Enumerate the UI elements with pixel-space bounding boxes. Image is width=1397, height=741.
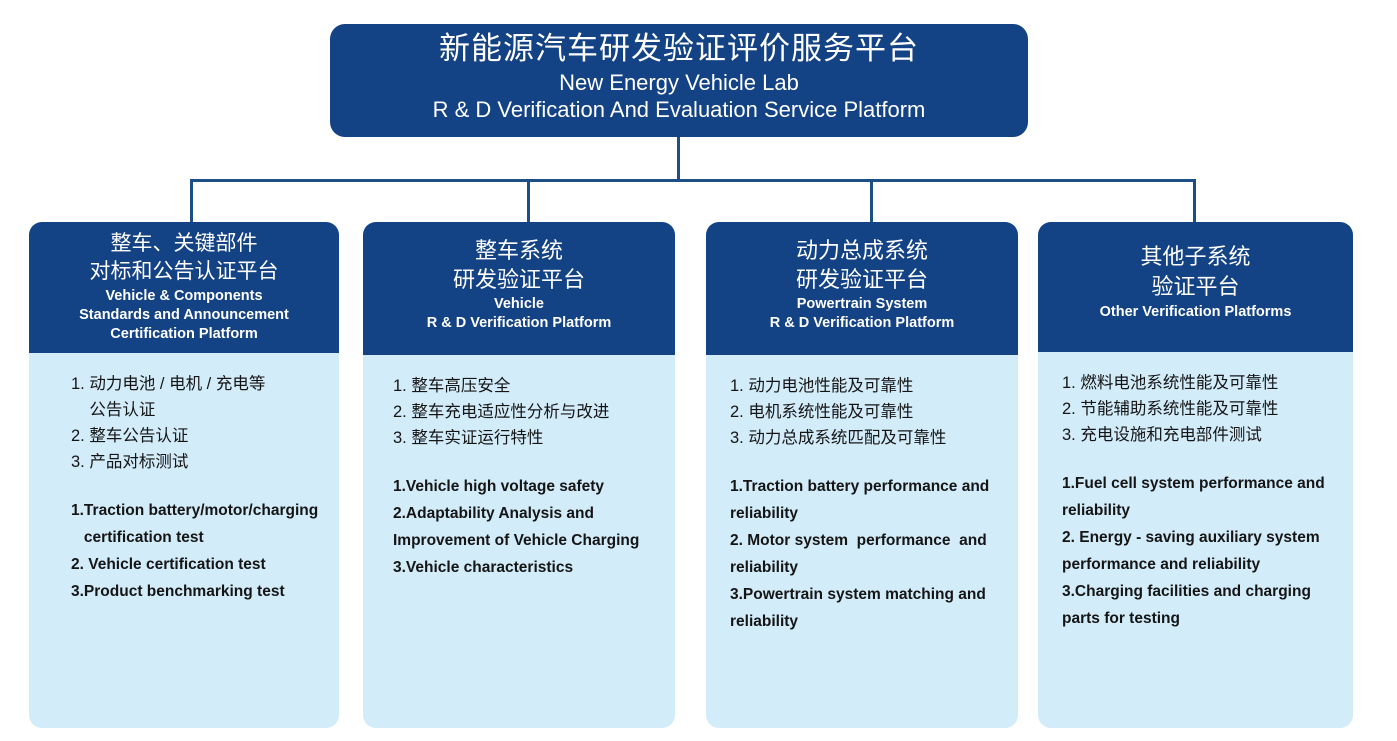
list-item: reliability: [730, 500, 1004, 527]
column-1-en-list: 1.Traction battery/motor/charging certif…: [71, 497, 325, 605]
column-3-header-en-line1: Powertrain System: [710, 295, 1014, 313]
list-item: 1. 动力电池性能及可靠性: [730, 373, 1004, 399]
list-item: Improvement of Vehicle Charging: [393, 527, 661, 554]
column-1-list-spacer: [71, 475, 325, 497]
list-item: 2.Adaptability Analysis and: [393, 500, 661, 527]
column-2-header-en-line2: R & D Verification Platform: [367, 314, 671, 332]
list-item: 3.Powertrain system matching and: [730, 581, 1004, 608]
connector-drop-4: [1193, 181, 1196, 223]
column-4-header-cn-line1: 其他子系统: [1042, 242, 1349, 272]
list-item: certification test: [71, 524, 325, 551]
connector-drop-3: [870, 181, 873, 223]
platform-column-2: 整车系统 研发验证平台 Vehicle R & D Verification P…: [363, 222, 675, 728]
column-1-header-en-line3: Certification Platform: [33, 325, 335, 343]
connector-drop-2: [527, 181, 530, 223]
list-item: 2. 整车公告认证: [71, 423, 325, 449]
list-item: performance and reliability: [1062, 551, 1339, 578]
list-item: reliability: [1062, 497, 1339, 524]
root-title-en-line2: R & D Verification And Evaluation Servic…: [330, 96, 1028, 123]
list-item: 2. 节能辅助系统性能及可靠性: [1062, 396, 1339, 422]
list-item: 2. Motor system performance and: [730, 527, 1004, 554]
column-1-header: 整车、关键部件 对标和公告认证平台 Vehicle & Components S…: [29, 222, 339, 353]
list-item: 1. 燃料电池系统性能及可靠性: [1062, 370, 1339, 396]
column-3-cn-list: 1. 动力电池性能及可靠性 2. 电机系统性能及可靠性 3. 动力总成系统匹配及…: [730, 373, 1004, 451]
column-1-header-cn-line1: 整车、关键部件: [33, 230, 335, 258]
list-item: 3. 充电设施和充电部件测试: [1062, 422, 1339, 448]
column-4-list-spacer: [1062, 448, 1339, 470]
list-item: 3. 产品对标测试: [71, 449, 325, 475]
column-4-body: 1. 燃料电池系统性能及可靠性 2. 节能辅助系统性能及可靠性 3. 充电设施和…: [1038, 352, 1353, 642]
root-platform-box: 新能源汽车研发验证评价服务平台 New Energy Vehicle Lab R…: [330, 24, 1028, 137]
diagram-canvas: 新能源汽车研发验证评价服务平台 New Energy Vehicle Lab R…: [0, 0, 1397, 741]
root-title-cn: 新能源汽车研发验证评价服务平台: [330, 29, 1028, 69]
column-4-cn-list: 1. 燃料电池系统性能及可靠性 2. 节能辅助系统性能及可靠性 3. 充电设施和…: [1062, 370, 1339, 448]
column-3-body: 1. 动力电池性能及可靠性 2. 电机系统性能及可靠性 3. 动力总成系统匹配及…: [706, 355, 1018, 645]
column-3-header-cn-line1: 动力总成系统: [710, 236, 1014, 265]
column-2-list-spacer: [393, 451, 661, 473]
list-item: 2. 整车充电适应性分析与改进: [393, 399, 661, 425]
list-item: 3.Charging facilities and charging: [1062, 578, 1339, 605]
column-4-header-cn-line2: 验证平台: [1042, 272, 1349, 302]
column-2-en-list: 1.Vehicle high voltage safety 2.Adaptabi…: [393, 473, 661, 581]
connector-vertical-stem: [677, 137, 680, 181]
list-item: 1.Traction battery/motor/charging: [71, 497, 325, 524]
column-4-en-list: 1.Fuel cell system performance and relia…: [1062, 470, 1339, 632]
list-item: 1.Traction battery performance and: [730, 473, 1004, 500]
list-item: parts for testing: [1062, 605, 1339, 632]
column-1-header-en-line2: Standards and Announcement: [33, 306, 335, 324]
platform-column-4: 其他子系统 验证平台 Other Verification Platforms …: [1038, 222, 1353, 728]
column-1-header-cn-line2: 对标和公告认证平台: [33, 258, 335, 286]
connector-horizontal-bus: [190, 179, 1196, 182]
column-2-header-cn-line1: 整车系统: [367, 236, 671, 265]
platform-column-1: 整车、关键部件 对标和公告认证平台 Vehicle & Components S…: [29, 222, 339, 728]
platform-column-3: 动力总成系统 研发验证平台 Powertrain System R & D Ve…: [706, 222, 1018, 728]
column-2-header-cn-line2: 研发验证平台: [367, 265, 671, 294]
column-3-header-en-line2: R & D Verification Platform: [710, 314, 1014, 332]
list-item: 1. 整车高压安全: [393, 373, 661, 399]
column-3-header-cn-line2: 研发验证平台: [710, 265, 1014, 294]
list-item: 公告认证: [71, 397, 325, 423]
list-item: 1.Fuel cell system performance and: [1062, 470, 1339, 497]
list-item: reliability: [730, 608, 1004, 635]
column-2-body: 1. 整车高压安全 2. 整车充电适应性分析与改进 3. 整车实证运行特性 1.…: [363, 355, 675, 591]
column-3-list-spacer: [730, 451, 1004, 473]
list-item: 2. 电机系统性能及可靠性: [730, 399, 1004, 425]
column-2-header: 整车系统 研发验证平台 Vehicle R & D Verification P…: [363, 222, 675, 355]
column-3-en-list: 1.Traction battery performance and relia…: [730, 473, 1004, 635]
list-item: 3.Vehicle characteristics: [393, 554, 661, 581]
column-3-header: 动力总成系统 研发验证平台 Powertrain System R & D Ve…: [706, 222, 1018, 355]
list-item: 3. 动力总成系统匹配及可靠性: [730, 425, 1004, 451]
column-1-body: 1. 动力电池 / 电机 / 充电等 公告认证 2. 整车公告认证 3. 产品对…: [29, 353, 339, 615]
column-4-header: 其他子系统 验证平台 Other Verification Platforms: [1038, 222, 1353, 352]
column-4-header-en-line1: Other Verification Platforms: [1042, 303, 1349, 321]
column-1-cn-list: 1. 动力电池 / 电机 / 充电等 公告认证 2. 整车公告认证 3. 产品对…: [71, 371, 325, 475]
list-item: 3.Product benchmarking test: [71, 578, 325, 605]
list-item: reliability: [730, 554, 1004, 581]
list-item: 1.Vehicle high voltage safety: [393, 473, 661, 500]
list-item: 1. 动力电池 / 电机 / 充电等: [71, 371, 325, 397]
root-title-en-line1: New Energy Vehicle Lab: [330, 69, 1028, 96]
connector-drop-1: [190, 181, 193, 223]
list-item: 3. 整车实证运行特性: [393, 425, 661, 451]
column-1-header-en-line1: Vehicle & Components: [33, 287, 335, 305]
column-2-cn-list: 1. 整车高压安全 2. 整车充电适应性分析与改进 3. 整车实证运行特性: [393, 373, 661, 451]
list-item: 2. Energy - saving auxiliary system: [1062, 524, 1339, 551]
list-item: 2. Vehicle certification test: [71, 551, 325, 578]
column-2-header-en-line1: Vehicle: [367, 295, 671, 313]
